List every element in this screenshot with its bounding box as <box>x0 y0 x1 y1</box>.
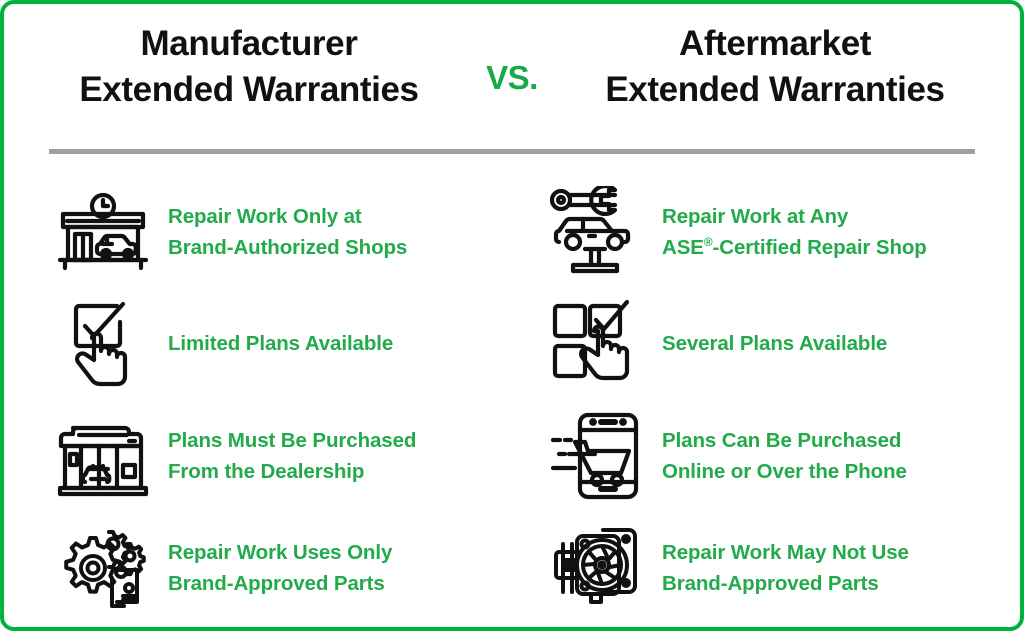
comparison-columns: Repair Work Only at Brand-Authorized Sho… <box>4 154 1020 624</box>
list-item-line-2: Brand-Authorized Shops <box>168 232 407 263</box>
aftermarket-column: Repair Work at Any ASE®-Certified Repair… <box>512 176 1020 624</box>
list-item-text: Several Plans Available <box>662 328 887 359</box>
multi-checkbox-hand-icon <box>532 298 662 390</box>
auto-repair-shop-icon <box>38 192 168 272</box>
list-item-line-1: Repair Work at Any <box>662 201 927 232</box>
right-column-title: Aftermarket Extended Warranties <box>560 21 990 113</box>
car-lift-wrench-icon <box>532 186 662 278</box>
list-item-text: Plans Can Be Purchased Online or Over th… <box>662 425 907 488</box>
ase-prefix: ASE <box>662 236 704 259</box>
list-item-text: Repair Work May Not Use Brand-Approved P… <box>662 537 909 600</box>
list-item-line-2: ASE®-Certified Repair Shop <box>662 232 927 263</box>
list-item-line-2: Online or Over the Phone <box>662 456 907 487</box>
list-item-line-1: Repair Work Uses Only <box>168 537 392 568</box>
registered-trademark-symbol: ® <box>704 235 713 249</box>
list-item-text: Repair Work Only at Brand-Authorized Sho… <box>168 201 407 264</box>
list-item: Several Plans Available <box>532 288 1020 400</box>
list-item-text: Repair Work at Any ASE®-Certified Repair… <box>662 201 927 264</box>
left-title-line-2: Extended Warranties <box>34 67 464 113</box>
list-item-text: Plans Must Be Purchased From the Dealers… <box>168 425 416 488</box>
list-item-text: Limited Plans Available <box>168 328 393 359</box>
header: Manufacturer Extended Warranties VS. Aft… <box>4 4 1020 130</box>
single-checkbox-hand-icon <box>38 298 168 390</box>
list-item-line-1: Limited Plans Available <box>168 328 393 359</box>
turbo-alternator-part-icon <box>532 522 662 614</box>
list-item: Repair Work May Not Use Brand-Approved P… <box>532 512 1020 624</box>
list-item-line-1: Repair Work Only at <box>168 201 407 232</box>
list-item: Repair Work at Any ASE®-Certified Repair… <box>532 176 1020 288</box>
list-item-text: Repair Work Uses Only Brand-Approved Par… <box>168 537 392 600</box>
list-item-line-1: Plans Must Be Purchased <box>168 425 416 456</box>
list-item-line-2: Brand-Approved Parts <box>168 568 392 599</box>
list-item: Repair Work Uses Only Brand-Approved Par… <box>38 512 512 624</box>
list-item: Repair Work Only at Brand-Authorized Sho… <box>38 176 512 288</box>
left-title-line-1: Manufacturer <box>34 21 464 67</box>
dealership-building-icon <box>38 410 168 502</box>
ase-suffix: -Certified Repair Shop <box>713 236 927 259</box>
list-item-line-2: From the Dealership <box>168 456 416 487</box>
warranty-comparison-infographic: Manufacturer Extended Warranties VS. Aft… <box>0 0 1024 631</box>
list-item: Plans Must Be Purchased From the Dealers… <box>38 400 512 512</box>
right-title-line-1: Aftermarket <box>560 21 990 67</box>
list-item: Plans Can Be Purchased Online or Over th… <box>532 400 1020 512</box>
phone-shopping-cart-icon <box>532 410 662 502</box>
manufacturer-column: Repair Work Only at Brand-Authorized Sho… <box>4 176 512 624</box>
list-item-line-2: Brand-Approved Parts <box>662 568 909 599</box>
gears-parts-icon <box>38 522 168 614</box>
right-title-line-2: Extended Warranties <box>560 67 990 113</box>
list-item-line-1: Plans Can Be Purchased <box>662 425 907 456</box>
left-column-title: Manufacturer Extended Warranties <box>34 21 464 113</box>
list-item: Limited Plans Available <box>38 288 512 400</box>
versus-label: VS. <box>464 37 560 97</box>
list-item-line-1: Repair Work May Not Use <box>662 537 909 568</box>
list-item-line-1: Several Plans Available <box>662 328 887 359</box>
